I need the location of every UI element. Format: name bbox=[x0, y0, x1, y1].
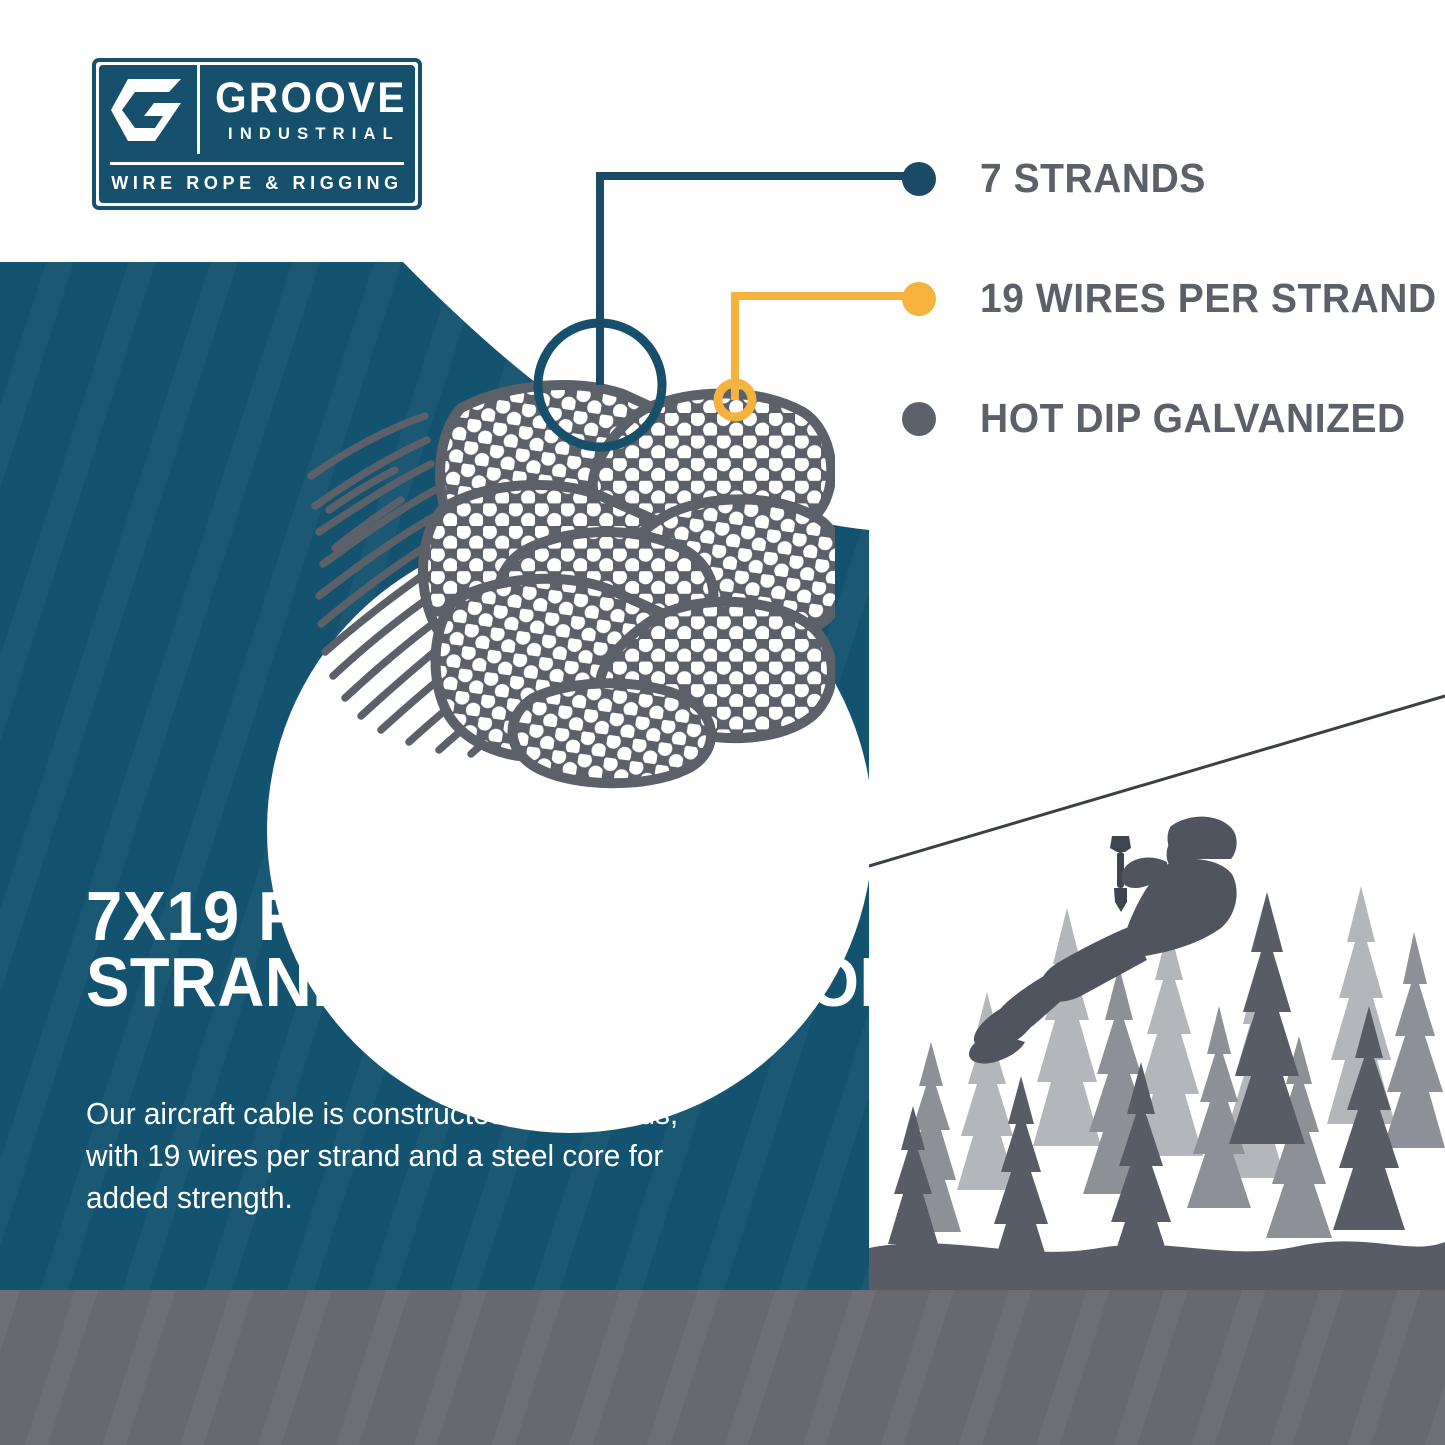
callout-dot-icon bbox=[902, 282, 936, 316]
footer-gray-band bbox=[0, 1290, 1445, 1445]
navy-elbow-connector bbox=[600, 176, 912, 385]
page-headline: 7X19 FLEXIBLE STRAND CONSTRUCTION bbox=[86, 884, 774, 1016]
zipline-forest-scene bbox=[869, 676, 1445, 1290]
callout-label: 19 WIRES PER STRAND bbox=[980, 275, 1437, 322]
headline-line-1: 7X19 FLEXIBLE bbox=[86, 884, 774, 950]
callout-dot-icon bbox=[902, 162, 936, 196]
callout-connectors bbox=[0, 0, 1445, 460]
zipline-scene-art bbox=[869, 676, 1445, 1290]
headline-line-2: STRAND CONSTRUCTION bbox=[86, 950, 774, 1016]
callout-dot-icon bbox=[902, 402, 936, 436]
callout-7-strands[interactable]: 7 STRANDS bbox=[902, 155, 1218, 202]
amber-elbow-connector bbox=[735, 296, 912, 400]
page-body-text: Our aircraft cable is constructed of 7 s… bbox=[86, 1093, 720, 1219]
callout-hot-dip-galvanized[interactable]: HOT DIP GALVANIZED bbox=[902, 395, 1428, 442]
callout-label: 7 STRANDS bbox=[980, 155, 1206, 202]
callout-label: HOT DIP GALVANIZED bbox=[980, 395, 1406, 442]
callout-19-wires-per-strand[interactable]: 19 WIRES PER STRAND bbox=[902, 275, 1445, 322]
footer-diagonal-texture bbox=[0, 1290, 1445, 1445]
infographic-canvas: GROOVE INDUSTRIAL WIRE ROPE & RIGGING bbox=[0, 0, 1445, 1445]
